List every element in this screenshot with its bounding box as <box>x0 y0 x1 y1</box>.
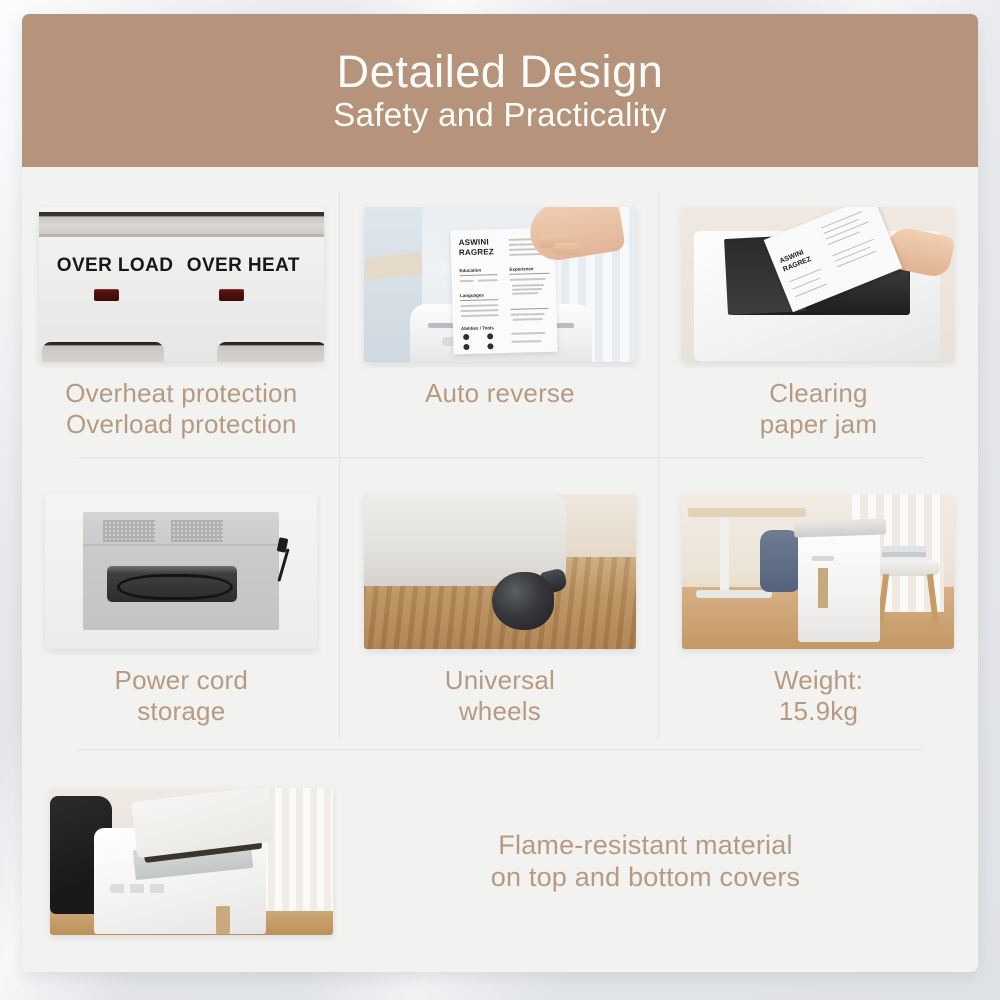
feature-cell-weight[interactable]: Weight: 15.9kg <box>659 458 978 749</box>
caster-wheel <box>492 572 554 630</box>
feature-caption-line-1: Power cord <box>115 665 249 696</box>
feature-caption-line-2: on top and bottom covers <box>333 861 958 893</box>
feature-caption-line-1: Auto reverse <box>425 378 575 409</box>
shredder-in-home-office-room-photo <box>682 494 954 649</box>
over-heat-label: OVER HEAT <box>187 255 300 277</box>
feature-row-2: Power cord storage Universal <box>22 458 978 749</box>
feature-caption-line-2: paper jam <box>760 409 877 440</box>
resume-section-experience: Experience <box>509 266 533 272</box>
resume-name: ASWINI RAGREZ <box>458 237 493 258</box>
hand-feeding-resume-into-shredder-photo: ASWINI RAGREZ Education Experience <box>364 207 636 362</box>
feature-caption: Clearing paper jam <box>760 378 877 439</box>
caster-wheel-on-wood-floor-photo <box>364 494 636 649</box>
feature-caption-line-2: Overload protection <box>65 409 297 440</box>
feature-grid: OVER LOAD OVER HEAT Overheat protection … <box>22 167 978 972</box>
document-name: ASWINI RAGREZ <box>779 247 813 275</box>
feature-caption: Auto reverse <box>425 378 575 409</box>
feature-cell-power-cord-storage[interactable]: Power cord storage <box>22 458 341 749</box>
feature-caption: Flame-resistant material on top and bott… <box>333 829 978 894</box>
header-banner: Detailed Design Safety and Practicality <box>22 14 978 167</box>
control-panel-indicator-photo: OVER LOAD OVER HEAT <box>39 207 324 362</box>
over-load-indicator-light <box>94 289 119 301</box>
shredder-with-open-top-cover-photo <box>50 788 333 935</box>
feature-row-1: OVER LOAD OVER HEAT Overheat protection … <box>22 167 978 457</box>
shredder-unit <box>798 532 880 642</box>
resume-section-skills: Abilities / Tools <box>461 325 494 331</box>
feature-row-3: Flame-resistant material on top and bott… <box>22 750 978 972</box>
feature-caption-line-2: 15.9kg <box>774 696 863 727</box>
feature-caption-line-2: storage <box>115 696 249 727</box>
feature-cell-flame-resistant-material[interactable]: Flame-resistant material on top and bott… <box>22 750 978 972</box>
feature-cell-auto-reverse[interactable]: ASWINI RAGREZ Education Experience <box>341 167 660 457</box>
resume-section-languages: Languages <box>460 293 484 299</box>
feature-cell-overheat-overload-protection[interactable]: OVER LOAD OVER HEAT Overheat protection … <box>22 167 341 457</box>
feature-caption: Power cord storage <box>115 665 249 726</box>
resume-section-education: Education <box>459 268 481 274</box>
feature-caption: Universal wheels <box>445 665 555 726</box>
feature-caption: Overheat protection Overload protection <box>65 378 297 439</box>
feature-cell-universal-wheels[interactable]: Universal wheels <box>341 458 660 749</box>
detailed-design-card: Detailed Design Safety and Practicality … <box>22 14 978 972</box>
feature-caption-line-1: Overheat protection <box>65 378 297 409</box>
feature-caption-line-1: Weight: <box>774 665 863 696</box>
feature-caption: Weight: 15.9kg <box>774 665 863 726</box>
power-cord <box>117 574 233 600</box>
page-title: Detailed Design <box>337 48 664 95</box>
feature-caption-line-1: Flame-resistant material <box>333 829 958 861</box>
over-load-label: OVER LOAD <box>57 255 174 277</box>
over-heat-indicator-light <box>219 289 244 301</box>
rear-cord-storage-compartment-photo <box>45 494 317 649</box>
feature-caption-line-1: Clearing <box>760 378 877 409</box>
open-shredder-head-paper-jam-photo: ASWINI RAGREZ <box>682 207 954 362</box>
feature-cell-clearing-paper-jam[interactable]: ASWINI RAGREZ <box>659 167 978 457</box>
feature-caption-line-1: Universal <box>445 665 555 696</box>
page-subtitle: Safety and Practicality <box>333 97 666 133</box>
feature-caption-line-2: wheels <box>445 696 555 727</box>
